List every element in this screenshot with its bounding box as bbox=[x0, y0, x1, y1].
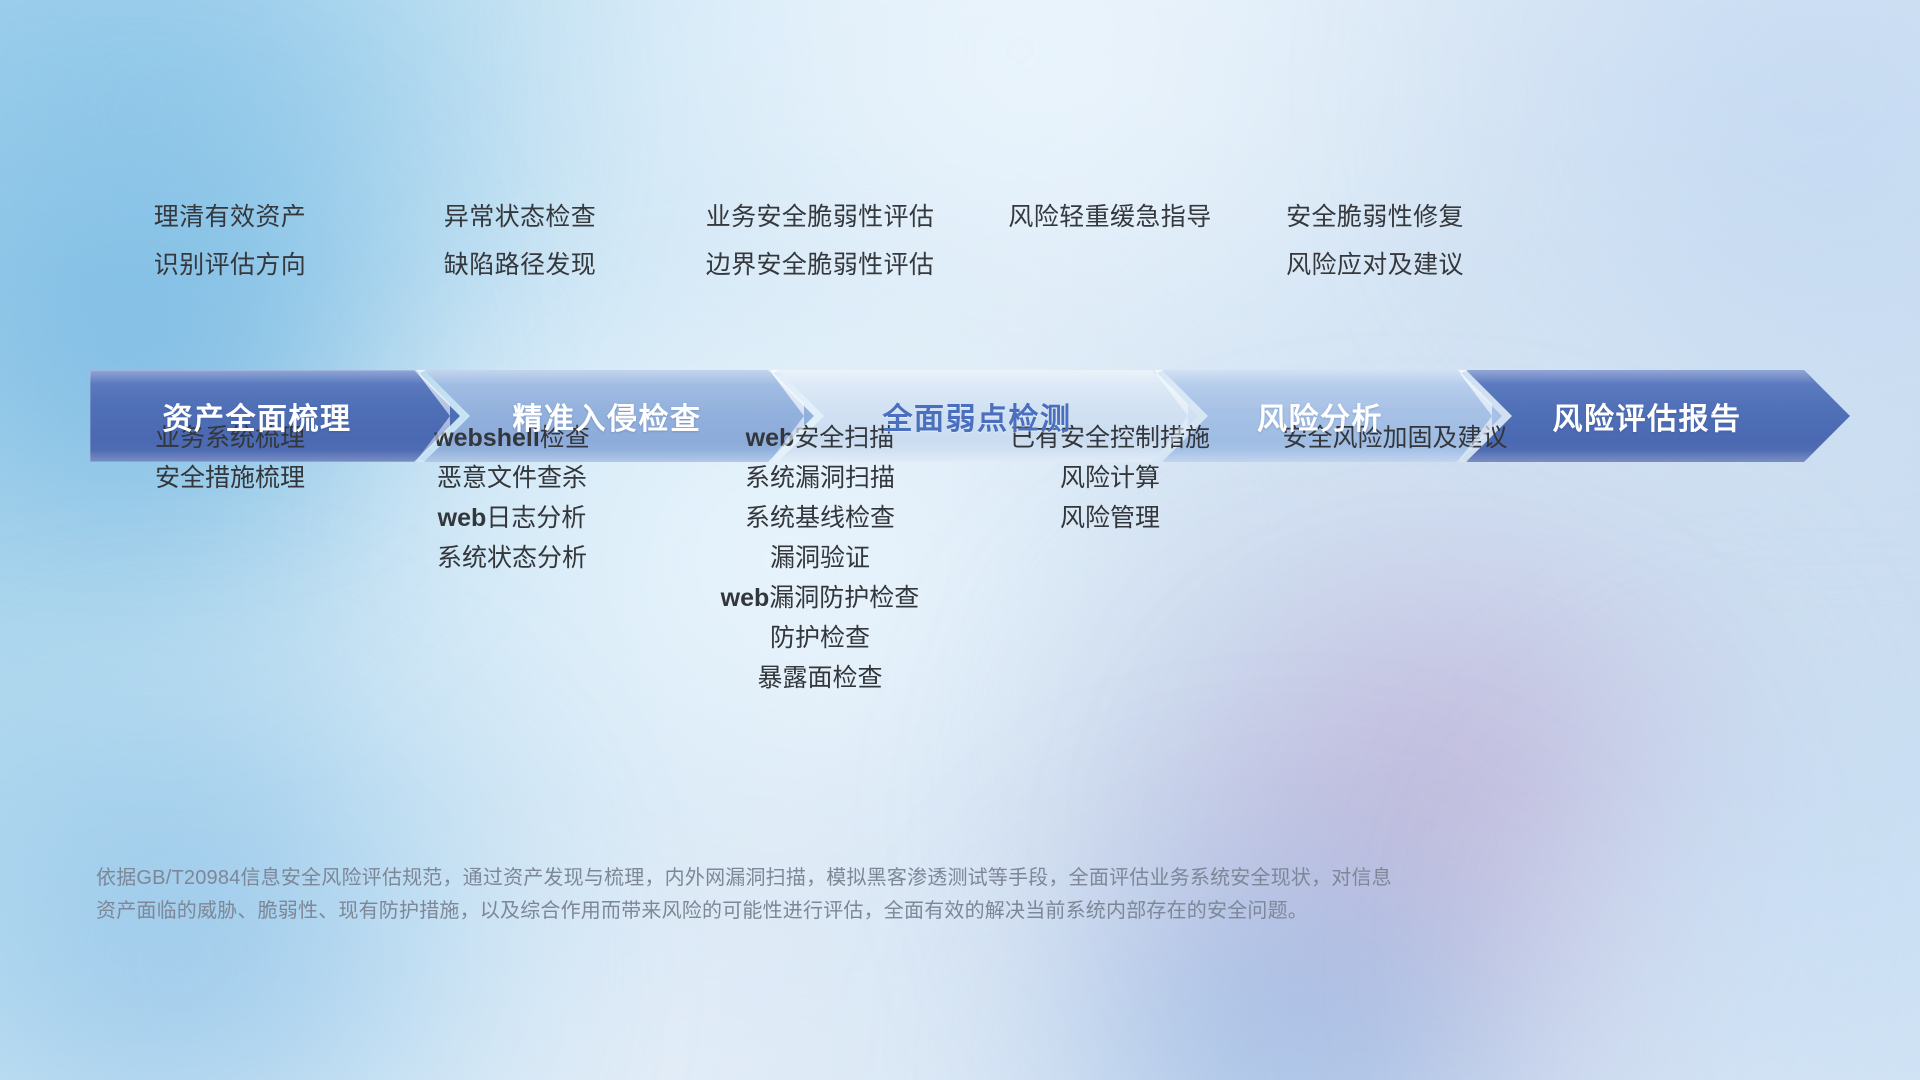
top-caption-1-line-2: 识别评估方向 bbox=[60, 241, 400, 289]
top-caption-1: 理清有效资产 识别评估方向 bbox=[60, 193, 400, 289]
detail-item-cjk: 风险管理 bbox=[1060, 504, 1160, 532]
detail-item-cjk: 漏洞验证 bbox=[770, 544, 870, 572]
detail-item-cjk: 系统基线检查 bbox=[745, 504, 895, 532]
detail-item-cjk: 系统漏洞扫描 bbox=[745, 464, 895, 492]
detail-item: 漏洞验证 bbox=[610, 538, 1030, 578]
detail-item-cjk: 恶意文件查杀 bbox=[437, 464, 587, 492]
top-caption-5: 安全脆弱性修复 风险应对及建议 bbox=[1190, 193, 1560, 289]
detail-item-latin: web bbox=[438, 504, 487, 532]
detail-item-latin: web bbox=[721, 584, 770, 612]
footer-line-1: 依据GB/T20984信息安全风险评估规范，通过资产发现与梳理，内外网漏洞扫描，… bbox=[96, 862, 1596, 895]
stage-chevron-2-label: 精准入侵检查 bbox=[513, 394, 702, 438]
stage-chevron-5-label: 风险评估报告 bbox=[1553, 394, 1742, 438]
detail-item: 安全风险加固及建议 bbox=[1185, 418, 1605, 458]
detail-item-cjk: 日志分析 bbox=[486, 504, 586, 532]
footer-description: 依据GB/T20984信息安全风险评估规范，通过资产发现与梳理，内外网漏洞扫描，… bbox=[96, 862, 1596, 928]
detail-item-latin: web bbox=[746, 424, 795, 452]
detail-column-5: 安全风险加固及建议 bbox=[1185, 418, 1605, 458]
detail-item-cjk: 安全扫描 bbox=[794, 424, 894, 452]
top-caption-5-line-2: 风险应对及建议 bbox=[1190, 241, 1560, 289]
detail-item: 风险计算 bbox=[915, 458, 1305, 498]
top-caption-3-line-2: 边界安全脆弱性评估 bbox=[610, 241, 1030, 289]
stage-chevron-3-label: 全面弱点检测 bbox=[883, 394, 1072, 438]
detail-item-cjk: 漏洞防护检查 bbox=[769, 584, 919, 612]
top-caption-1-line-1: 理清有效资产 bbox=[60, 193, 400, 241]
footer-line-2: 资产面临的威胁、脆弱性、现有防护措施，以及综合作用而带来风险的可能性进行评估，全… bbox=[96, 895, 1596, 928]
detail-item: web漏洞防护检查 bbox=[610, 578, 1030, 618]
detail-item-cjk: 暴露面检查 bbox=[757, 664, 882, 692]
detail-item-cjk: 风险计算 bbox=[1060, 464, 1160, 492]
detail-item: 风险管理 bbox=[915, 498, 1305, 538]
detail-item: 暴露面检查 bbox=[610, 658, 1030, 698]
stage-chevron-1-label: 资产全面梳理 bbox=[163, 394, 352, 438]
detail-item-cjk: 安全措施梳理 bbox=[155, 464, 305, 492]
detail-item: 防护检查 bbox=[610, 618, 1030, 658]
process-diagram: 理清有效资产 识别评估方向 异常状态检查 缺陷路径发现 业务安全脆弱性评估 边界… bbox=[0, 0, 1920, 1080]
stage-chevron-4-label: 风险分析 bbox=[1257, 394, 1383, 438]
detail-item-cjk: 系统状态分析 bbox=[437, 544, 587, 572]
detail-item-cjk: 防护检查 bbox=[770, 624, 870, 652]
top-caption-5-line-1: 安全脆弱性修复 bbox=[1190, 193, 1560, 241]
